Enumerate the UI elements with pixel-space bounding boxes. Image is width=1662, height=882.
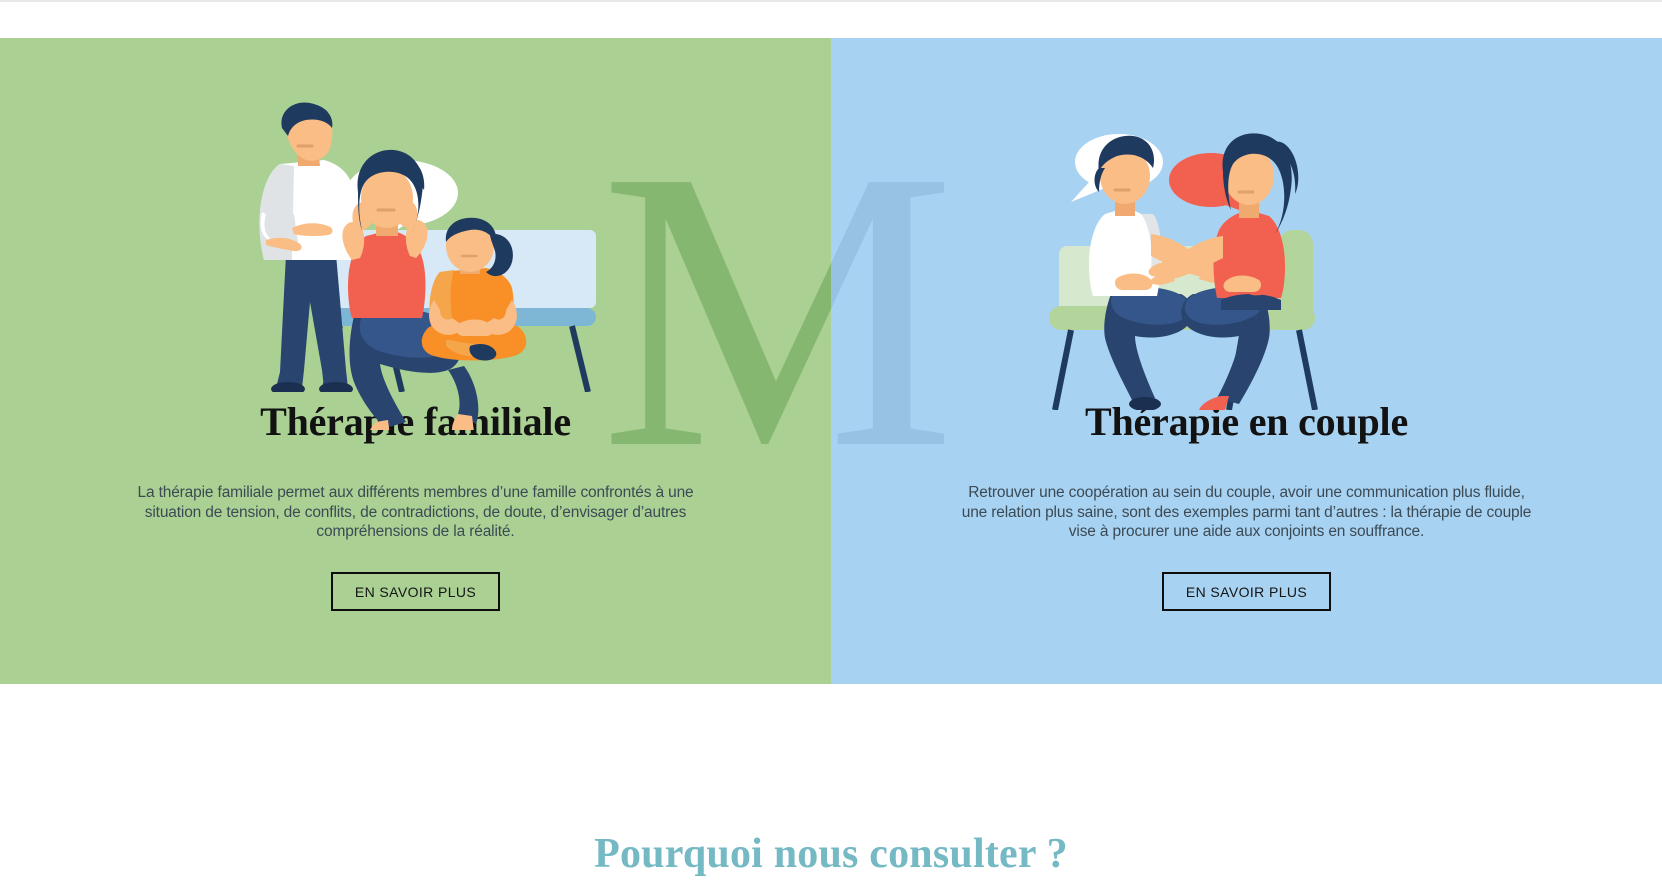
couple-figures-overlay bbox=[1047, 110, 1347, 410]
page-root: Thérapie familiale La thérapie familiale… bbox=[0, 0, 1662, 882]
card-panel-therapie-en-couple: Thérapie en couple Retrouver une coopéra… bbox=[831, 38, 1662, 684]
card-panel-therapie-familiale: Thérapie familiale La thérapie familiale… bbox=[0, 38, 831, 684]
why-consult-section: Pourquoi nous consulter ? bbox=[0, 684, 1662, 882]
why-consult-heading: Pourquoi nous consulter ? bbox=[0, 830, 1662, 878]
card-body-therapie-familiale: La thérapie familiale permet aux différe… bbox=[126, 483, 706, 542]
card-body-therapie-en-couple: Retrouver une coopération au sein du cou… bbox=[957, 483, 1537, 542]
en-savoir-plus-button-familiale[interactable]: EN SAVOIR PLUS bbox=[331, 572, 500, 611]
en-savoir-plus-button-couple[interactable]: EN SAVOIR PLUS bbox=[1162, 572, 1331, 611]
top-white-strip bbox=[0, 2, 1662, 38]
family-figures-overlay bbox=[236, 140, 566, 430]
therapy-cards-row: Thérapie familiale La thérapie familiale… bbox=[0, 38, 1662, 684]
